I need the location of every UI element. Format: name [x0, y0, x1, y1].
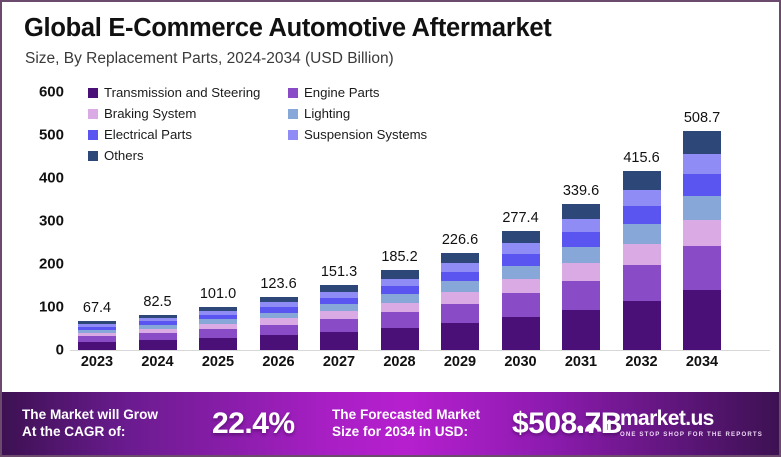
bar-group[interactable]: 415.6 — [623, 171, 661, 350]
bar-segment[interactable] — [683, 290, 721, 350]
bar-segment[interactable] — [623, 206, 661, 224]
y-axis-tick-label: 600 — [39, 84, 64, 101]
bar-segment[interactable] — [683, 154, 721, 174]
bar-segment[interactable] — [623, 224, 661, 244]
bar-segment[interactable] — [139, 340, 177, 350]
x-axis-tick-label: 2027 — [320, 354, 358, 370]
bar-segment[interactable] — [381, 294, 419, 303]
bar-group[interactable]: 151.3 — [320, 285, 358, 350]
bar-value-label: 277.4 — [502, 210, 538, 226]
bar-segment[interactable] — [441, 253, 479, 263]
bar-segment[interactable] — [381, 270, 419, 278]
y-axis-tick-label: 100 — [39, 299, 64, 316]
y-axis-tick-label: 500 — [39, 127, 64, 144]
bar-segment[interactable] — [562, 281, 600, 310]
bar-series-container: 67.482.5101.0123.6151.3185.2226.6277.433… — [70, 92, 770, 351]
x-axis-tick-label: 2026 — [260, 354, 298, 370]
bar-value-label: 339.6 — [563, 183, 599, 199]
bar-segment[interactable] — [562, 219, 600, 232]
y-axis-tick-label: 200 — [39, 256, 64, 273]
brand-logo[interactable]: market.us ONE STOP SHOP FOR THE REPORTS — [577, 408, 763, 438]
stacked-bar[interactable] — [320, 285, 358, 350]
bar-value-label: 67.4 — [83, 300, 111, 316]
bar-group[interactable]: 508.7 — [683, 131, 721, 350]
stacked-bar[interactable] — [199, 307, 237, 350]
stacked-bar[interactable] — [683, 131, 721, 350]
bar-segment[interactable] — [502, 279, 540, 293]
y-axis-tick-label: 0 — [56, 342, 64, 359]
bar-segment[interactable] — [683, 131, 721, 154]
stacked-bar[interactable] — [260, 297, 298, 350]
bar-segment[interactable] — [623, 301, 661, 350]
bar-segment[interactable] — [441, 304, 479, 323]
page-title: Global E-Commerce Automotive Aftermarket — [24, 14, 551, 43]
bar-value-label: 101.0 — [200, 286, 236, 302]
bar-value-label: 185.2 — [381, 249, 417, 265]
bar-segment[interactable] — [562, 204, 600, 219]
stacked-bar[interactable] — [78, 321, 116, 350]
x-axis-tick-label: 2028 — [381, 354, 419, 370]
bar-segment[interactable] — [683, 174, 721, 196]
bar-segment[interactable] — [683, 220, 721, 246]
y-axis-tick-label: 400 — [39, 170, 64, 187]
bar-segment[interactable] — [683, 196, 721, 220]
stacked-bar[interactable] — [502, 231, 540, 350]
bar-segment[interactable] — [441, 272, 479, 282]
bar-group[interactable]: 339.6 — [562, 204, 600, 350]
x-axis-tick-label: 2024 — [139, 354, 177, 370]
bar-group[interactable]: 185.2 — [381, 270, 419, 350]
stacked-bar[interactable] — [562, 204, 600, 350]
forecast-size-label: The Forecasted Market Size for 2034 in U… — [332, 407, 480, 439]
bar-value-label: 415.6 — [623, 150, 659, 166]
bar-segment[interactable] — [623, 171, 661, 190]
brand-name: market.us — [620, 408, 714, 429]
header: Global E-Commerce Automotive Aftermarket… — [2, 2, 781, 80]
stacked-bar[interactable] — [381, 270, 419, 350]
bar-value-label: 508.7 — [684, 110, 720, 126]
bar-segment[interactable] — [562, 247, 600, 263]
y-axis-tick-label: 300 — [39, 213, 64, 230]
x-axis-tick-label: 2034 — [683, 354, 721, 370]
x-axis-tick-label: 2030 — [502, 354, 540, 370]
bar-group[interactable]: 82.5 — [139, 315, 177, 350]
bar-value-label: 82.5 — [143, 294, 171, 310]
bar-segment[interactable] — [683, 246, 721, 290]
bar-segment[interactable] — [502, 266, 540, 279]
stacked-bar[interactable] — [441, 253, 479, 350]
bar-segment[interactable] — [78, 342, 116, 350]
bar-segment[interactable] — [381, 303, 419, 313]
footer-banner: The Market will Grow At the CAGR of: 22.… — [2, 392, 779, 455]
bar-segment[interactable] — [623, 244, 661, 265]
chart-plot-area: 0100200300400500600 67.482.5101.0123.615… — [2, 92, 781, 382]
x-axis-tick-label: 2032 — [623, 354, 661, 370]
x-axis-tick-label: 2029 — [441, 354, 479, 370]
x-axis-tick-label: 2023 — [78, 354, 116, 370]
bar-segment[interactable] — [320, 319, 358, 332]
y-axis: 0100200300400500600 — [2, 92, 72, 351]
bar-segment[interactable] — [139, 333, 177, 340]
bar-segment[interactable] — [441, 281, 479, 292]
brand-tagline: ONE STOP SHOP FOR THE REPORTS — [620, 432, 763, 438]
bar-segment[interactable] — [199, 338, 237, 350]
bar-segment[interactable] — [381, 312, 419, 328]
bar-segment[interactable] — [260, 335, 298, 350]
bar-segment[interactable] — [562, 263, 600, 281]
bar-group[interactable]: 226.6 — [441, 253, 479, 350]
bar-segment[interactable] — [441, 323, 479, 350]
bar-segment[interactable] — [502, 293, 540, 317]
bar-group[interactable]: 123.6 — [260, 297, 298, 350]
bar-segment[interactable] — [441, 263, 479, 272]
x-axis-tick-label: 2025 — [199, 354, 237, 370]
bar-value-label: 151.3 — [321, 264, 357, 280]
bar-segment[interactable] — [562, 310, 600, 350]
bar-segment[interactable] — [320, 311, 358, 319]
bar-group[interactable]: 277.4 — [502, 231, 540, 350]
bar-segment[interactable] — [441, 292, 479, 304]
cagr-value: 22.4% — [212, 407, 295, 441]
bar-segment[interactable] — [260, 325, 298, 336]
bar-segment[interactable] — [502, 317, 540, 350]
x-axis: 2023202420252026202720282029203020312032… — [70, 354, 770, 378]
bar-value-label: 123.6 — [260, 276, 296, 292]
bar-segment[interactable] — [381, 286, 419, 294]
bar-segment[interactable] — [381, 328, 419, 350]
stacked-bar[interactable] — [623, 171, 661, 350]
bar-segment[interactable] — [320, 332, 358, 350]
bar-segment[interactable] — [199, 329, 237, 338]
stacked-bar[interactable] — [139, 315, 177, 350]
chart-infographic: Global E-Commerce Automotive Aftermarket… — [0, 0, 781, 457]
bar-segment[interactable] — [320, 285, 358, 292]
bar-value-label: 226.6 — [442, 232, 478, 248]
bar-segment[interactable] — [502, 254, 540, 266]
cagr-label: The Market will Grow At the CAGR of: — [22, 407, 158, 439]
bar-segment[interactable] — [320, 304, 358, 311]
bar-segment[interactable] — [502, 231, 540, 244]
bar-segment[interactable] — [562, 232, 600, 247]
bar-segment[interactable] — [381, 279, 419, 286]
bar-group[interactable]: 101.0 — [199, 307, 237, 350]
bar-segment[interactable] — [623, 190, 661, 206]
bar-group[interactable]: 67.4 — [78, 321, 116, 350]
bar-segment[interactable] — [623, 265, 661, 301]
x-axis-tick-label: 2031 — [562, 354, 600, 370]
bar-segment[interactable] — [502, 243, 540, 254]
market-us-logo-icon — [577, 412, 611, 435]
page-subtitle: Size, By Replacement Parts, 2024-2034 (U… — [25, 50, 394, 68]
